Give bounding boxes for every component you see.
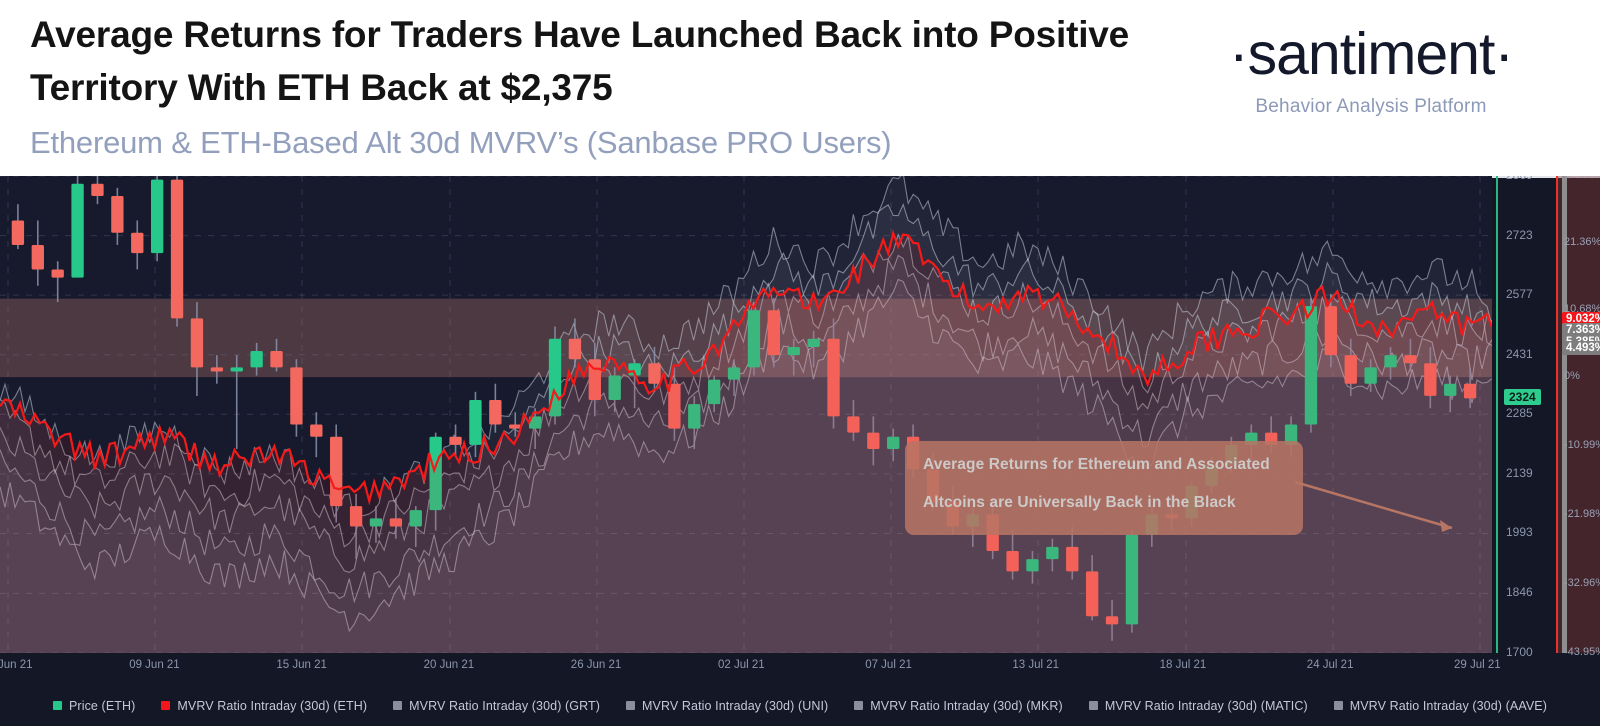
legend-item[interactable]: MVRV Ratio Intraday (30d) (GRT) xyxy=(393,699,600,713)
legend-swatch-icon xyxy=(161,701,170,710)
y-axis-price-tick: 2869 xyxy=(1506,176,1533,182)
y-axis-percent-tick: 32.05% xyxy=(1564,176,1600,181)
legend-swatch-icon xyxy=(626,701,635,710)
legend-item[interactable]: Price (ETH) xyxy=(53,699,135,713)
legend-swatch-icon xyxy=(1334,701,1343,710)
legend-item[interactable]: MVRV Ratio Intraday (30d) (AAVE) xyxy=(1334,699,1547,713)
x-axis-tick: 18 Jul 21 xyxy=(1160,659,1207,671)
y-axis-price-tick: 2139 xyxy=(1506,466,1533,480)
y-axis-price-tick: 2577 xyxy=(1506,287,1533,301)
page-subtitle: Ethereum & ETH-Based Alt 30d MVRV’s (San… xyxy=(30,123,1150,163)
legend-item[interactable]: MVRV Ratio Intraday (30d) (UNI) xyxy=(626,699,828,713)
x-axis-tick: 24 Jul 21 xyxy=(1307,659,1354,671)
annotation-line-2: Altcoins are Universally Back in the Bla… xyxy=(923,493,1285,512)
brand-wordmark: ·santiment· xyxy=(1176,22,1566,86)
chart-legend: Price (ETH)MVRV Ratio Intraday (30d) (ET… xyxy=(0,685,1600,726)
y-axis-price-tick: 1993 xyxy=(1506,525,1533,539)
x-axis-tick: 29 Jul 21 xyxy=(1454,659,1501,671)
legend-label: MVRV Ratio Intraday (30d) (MKR) xyxy=(870,699,1063,713)
annotation-line-1: Average Returns for Ethereum and Associa… xyxy=(923,455,1285,474)
legend-swatch-icon xyxy=(393,701,402,710)
brand-tagline: Behavior Analysis Platform xyxy=(1176,96,1566,118)
y-axis-percent-tick: -21.98% xyxy=(1564,508,1600,520)
x-axis-tick: 26 Jun 21 xyxy=(571,659,622,671)
x-axis-tick: 07 Jul 21 xyxy=(865,659,912,671)
legend-item[interactable]: MVRV Ratio Intraday (30d) (MKR) xyxy=(854,699,1063,713)
annotation-arrow xyxy=(1290,476,1470,536)
plot-svg xyxy=(0,176,1492,653)
legend-label: MVRV Ratio Intraday (30d) (GRT) xyxy=(409,699,600,713)
plot-area[interactable]: Average Returns for Ethereum and Associa… xyxy=(0,176,1492,653)
percent-axis-line-red xyxy=(1556,176,1558,653)
legend-item[interactable]: MVRV Ratio Intraday (30d) (MATIC) xyxy=(1089,699,1308,713)
price-axis-line xyxy=(1496,176,1498,653)
percent-value-badge: 4.493% xyxy=(1562,341,1600,355)
y-axis-price-tick: 2723 xyxy=(1506,228,1533,242)
y-axis-percent-tick: 21.36% xyxy=(1564,236,1600,248)
y-axis-price-tick: 2285 xyxy=(1506,406,1533,420)
legend-label: MVRV Ratio Intraday (30d) (MATIC) xyxy=(1105,699,1308,713)
price-value-badge: 2324 xyxy=(1504,389,1541,405)
y-axis-right: 28692723257724312285213919931846170032.0… xyxy=(1492,176,1600,653)
screenshot-root: Average Returns for Traders Have Launche… xyxy=(0,0,1600,726)
legend-swatch-icon xyxy=(53,701,62,710)
y-axis-percent-tick: 0% xyxy=(1564,370,1580,382)
legend-item[interactable]: MVRV Ratio Intraday (30d) (ETH) xyxy=(161,699,367,713)
x-axis-tick: 02 Jul 21 xyxy=(718,659,765,671)
legend-swatch-icon xyxy=(854,701,863,710)
page-title: Average Returns for Traders Have Launche… xyxy=(30,8,1130,114)
legend-label: MVRV Ratio Intraday (30d) (ETH) xyxy=(177,699,367,713)
y-axis-percent-tick: -10.99% xyxy=(1564,439,1600,451)
legend-label: MVRV Ratio Intraday (30d) (AAVE) xyxy=(1350,699,1547,713)
legend-label: Price (ETH) xyxy=(69,699,135,713)
y-axis-price-tick: 2431 xyxy=(1506,347,1533,361)
x-axis-tick: 09 Jun 21 xyxy=(129,659,180,671)
annotation-callout: Average Returns for Ethereum and Associa… xyxy=(905,441,1303,535)
header: Average Returns for Traders Have Launche… xyxy=(0,0,1600,176)
x-axis-tick: 13 Jul 21 xyxy=(1012,659,1059,671)
brand-logo: ·santiment· Behavior Analysis Platform xyxy=(1176,22,1566,118)
x-axis: 04 Jun 2109 Jun 2115 Jun 2120 Jun 2126 J… xyxy=(0,653,1600,685)
chart-container: Average Returns for Ethereum and Associa… xyxy=(0,176,1600,726)
y-axis-price-tick: 1846 xyxy=(1506,585,1533,599)
legend-label: MVRV Ratio Intraday (30d) (UNI) xyxy=(642,699,828,713)
x-axis-tick: 04 Jun 21 xyxy=(0,659,33,671)
x-axis-tick: 15 Jun 21 xyxy=(276,659,327,671)
x-axis-tick: 20 Jun 21 xyxy=(424,659,475,671)
legend-swatch-icon xyxy=(1089,701,1098,710)
y-axis-percent-tick: -32.96% xyxy=(1564,577,1600,589)
